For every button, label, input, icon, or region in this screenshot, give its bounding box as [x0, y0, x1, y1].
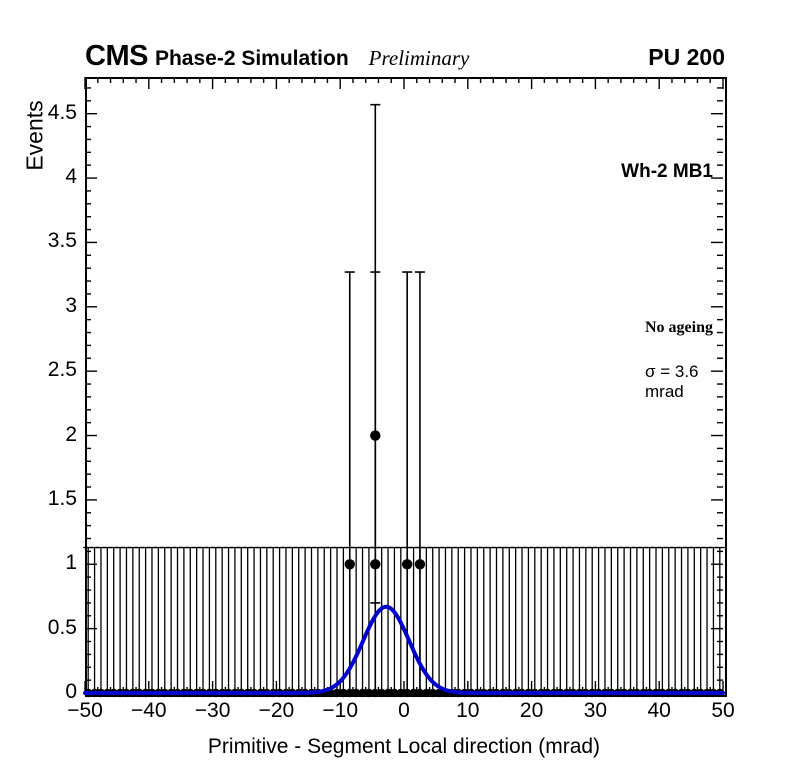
- x-tick-label: −50: [55, 699, 115, 723]
- y-tick-label: 2: [17, 423, 77, 447]
- y-tick-label: 4: [17, 165, 77, 189]
- gaussian-fit-curve: [85, 607, 723, 693]
- x-tick-label: 0: [374, 699, 434, 723]
- x-tick-label: −10: [310, 699, 370, 723]
- y-tick-label: 1.5: [17, 487, 77, 511]
- chart-page: CMS Phase-2 Simulation Preliminary PU 20…: [0, 0, 796, 772]
- y-tick-label: 3: [17, 294, 77, 318]
- data-point: [402, 559, 412, 569]
- y-tick-label: 1: [17, 551, 77, 575]
- cms-status-preliminary: Preliminary: [369, 48, 470, 69]
- y-tick-label: 2.5: [17, 358, 77, 382]
- cms-header: CMS Phase-2 Simulation Preliminary PU 20…: [85, 42, 725, 72]
- data-point: [415, 559, 425, 569]
- cms-pileup-label: PU 200: [648, 46, 725, 69]
- y-axis-title: Events: [22, 56, 49, 216]
- y-tick-label: 3.5: [17, 229, 77, 253]
- y-tick-label: 4.5: [17, 101, 77, 125]
- x-tick-label: 10: [438, 699, 498, 723]
- x-tick-label: −30: [183, 699, 243, 723]
- x-tick-label: 30: [565, 699, 625, 723]
- x-tick-label: 20: [502, 699, 562, 723]
- cms-subtitle: Phase-2 Simulation: [155, 48, 349, 69]
- cms-logo: CMS: [85, 42, 148, 71]
- y-tick-label: 0.5: [17, 616, 77, 640]
- x-tick-label: 40: [629, 699, 689, 723]
- data-series: [83, 105, 725, 698]
- data-point: [370, 559, 380, 569]
- x-axis-title: Primitive - Segment Local direction (mra…: [85, 735, 723, 759]
- plot-canvas: [85, 77, 723, 693]
- data-point: [345, 559, 355, 569]
- x-tick-label: −20: [246, 699, 306, 723]
- x-tick-label: 50: [693, 699, 753, 723]
- x-tick-label: −40: [119, 699, 179, 723]
